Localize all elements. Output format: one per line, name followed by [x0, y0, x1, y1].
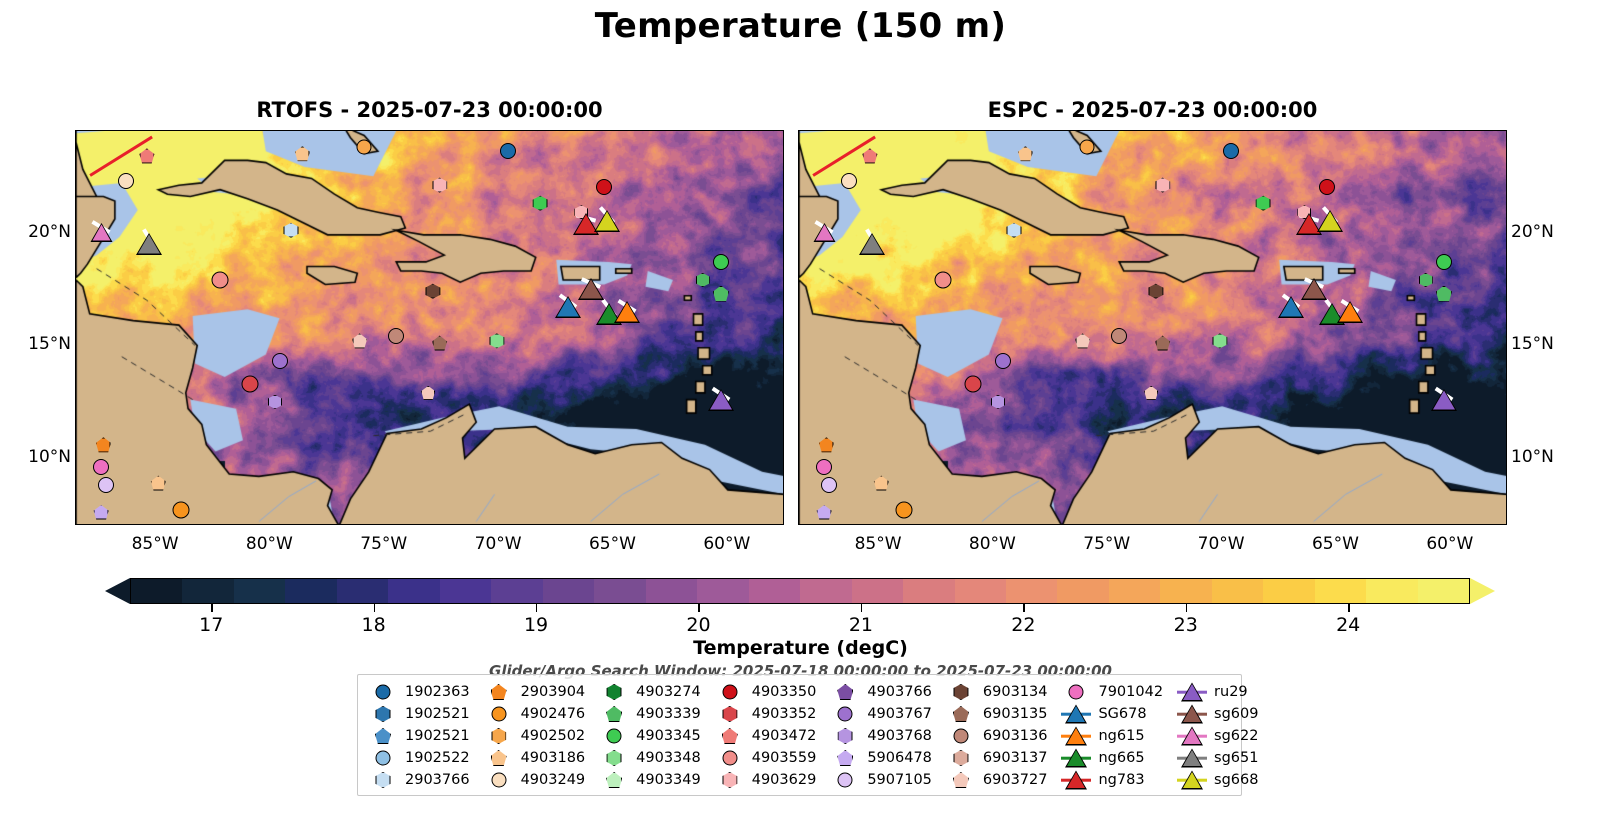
- legend-item-label: 6903137: [983, 750, 1048, 766]
- y-tick-minor: [75, 368, 76, 369]
- x-tick-major: [993, 524, 994, 525]
- y-tick-minor: [1506, 413, 1507, 414]
- legend-item[interactable]: 1902521: [368, 725, 470, 747]
- glider-triangle-fill: [1339, 302, 1361, 321]
- map-frame-rtofs[interactable]: [75, 130, 784, 525]
- colorbar-segment: [1263, 579, 1314, 603]
- y-tick-minor: [75, 255, 76, 256]
- y-tick-minor: [798, 503, 799, 504]
- colorbar-segment: [1160, 579, 1211, 603]
- legend-item-label: 4903766: [867, 684, 932, 700]
- legend-item[interactable]: 4902476: [484, 703, 586, 725]
- glider-marker-ng615[interactable]: [615, 300, 639, 324]
- colorbar-segment: [852, 579, 903, 603]
- legend-item[interactable]: 4903345: [599, 725, 701, 747]
- x-tick-minor: [408, 524, 409, 525]
- y-tick-minor: [783, 503, 784, 504]
- legend-item[interactable]: 2903766: [368, 769, 470, 791]
- x-tick-minor: [293, 524, 294, 525]
- x-tick-major: [156, 524, 157, 525]
- legend-item-label: ng615: [1098, 728, 1144, 744]
- y-tick-minor: [1506, 165, 1507, 166]
- legend-marker-hex-icon: [599, 682, 629, 702]
- legend-item-label: 2903904: [521, 684, 586, 700]
- glider-marker-ru29[interactable]: [1432, 388, 1456, 412]
- x-tick-major: [499, 524, 500, 525]
- argo-marker-4902502[interactable]: [1080, 139, 1095, 154]
- colorbar-segment: [1212, 579, 1263, 603]
- argo-marker-4903767[interactable]: [995, 353, 1011, 369]
- x-tick-minor: [1428, 524, 1429, 525]
- x-tick-minor: [705, 524, 706, 525]
- x-axis-label: 70°W: [1198, 534, 1245, 554]
- y-tick-major: [75, 233, 76, 234]
- y-tick-major: [798, 233, 799, 234]
- legend-item[interactable]: 4903348: [599, 747, 701, 769]
- legend-marker-fill: [491, 728, 506, 744]
- legend-item[interactable]: 7901042: [1061, 681, 1163, 703]
- glider-marker-SG678[interactable]: [1279, 295, 1303, 319]
- x-tick-minor: [1382, 524, 1383, 525]
- legend-item[interactable]: 4902502: [484, 725, 586, 747]
- glider-marker-sg622[interactable]: [814, 222, 835, 243]
- legend-marker-pent-icon: [946, 770, 976, 790]
- x-tick-minor: [453, 524, 454, 525]
- legend-item[interactable]: 5907105: [830, 769, 932, 791]
- y-axis-label: 10°N: [28, 447, 71, 467]
- legend-marker-pent-icon: [599, 704, 629, 724]
- glider-triangle-fill: [1433, 390, 1455, 409]
- glider-triangle-fill: [557, 298, 579, 317]
- legend-item-label: 4903349: [636, 772, 701, 788]
- legend-item[interactable]: 6903727: [946, 769, 1048, 791]
- legend-item-label: 4903348: [636, 750, 701, 766]
- legend-item-label: 4902502: [521, 728, 586, 744]
- argo-marker-4903345b[interactable]: [1436, 254, 1452, 270]
- colorbar-segment: [131, 579, 182, 603]
- legend-marker-circle-icon: [830, 770, 860, 790]
- legend-marker-circle-icon: [1061, 682, 1091, 702]
- y-axis-label: 20°N: [28, 222, 71, 242]
- x-axis-label: 85°W: [855, 534, 902, 554]
- legend-marker-circle-icon: [484, 704, 514, 724]
- legend-item[interactable]: ru29: [1177, 681, 1258, 703]
- legend-item-label: sg622: [1214, 728, 1258, 744]
- legend-item[interactable]: 4903352: [715, 703, 817, 725]
- glider-triangle-fill: [1303, 280, 1325, 299]
- y-tick-minor: [798, 210, 799, 211]
- x-axis-label: 75°W: [1083, 534, 1130, 554]
- legend-marker-circle-icon: [368, 748, 398, 768]
- argo-marker-4903249[interactable]: [118, 173, 134, 189]
- y-tick-major: [75, 345, 76, 346]
- colorbar-tick: [211, 604, 212, 612]
- x-tick-major: [613, 524, 614, 525]
- legend-item[interactable]: 4903629: [715, 769, 817, 791]
- colorbar-tick-label: 24: [1336, 614, 1360, 636]
- legend-marker-fill: [837, 750, 853, 766]
- legend-marker-circle-icon: [715, 748, 745, 768]
- y-tick-minor: [75, 210, 76, 211]
- legend-item[interactable]: sg609: [1177, 703, 1258, 725]
- colorbar-tick: [374, 604, 375, 612]
- legend-item-label: 1902522: [405, 750, 470, 766]
- legend-item[interactable]: 4903559: [715, 747, 817, 769]
- legend-item-label: SG678: [1098, 706, 1146, 722]
- legend-item[interactable]: 4903349: [599, 769, 701, 791]
- legend-item[interactable]: ng783: [1061, 769, 1163, 791]
- y-tick-minor: [1506, 210, 1507, 211]
- x-tick-minor: [1474, 524, 1475, 525]
- legend-marker-hex-icon: [599, 748, 629, 768]
- x-tick-minor: [522, 524, 523, 525]
- glider-marker-sg651[interactable]: [860, 232, 884, 256]
- map-frame-espc[interactable]: [798, 130, 1507, 525]
- x-tick-minor: [636, 524, 637, 525]
- colorbar-segment: [1109, 579, 1160, 603]
- x-tick-minor: [856, 524, 857, 525]
- colorbar-segment: [1057, 579, 1108, 603]
- x-tick-major: [879, 524, 880, 525]
- legend-marker-pent-icon: [946, 704, 976, 724]
- colorbar-tick: [698, 604, 699, 612]
- legend-triangle-fill: [1183, 750, 1201, 766]
- y-tick-minor: [783, 187, 784, 188]
- legend-marker-fill: [491, 773, 506, 788]
- legend-item[interactable]: 1902521: [368, 703, 470, 725]
- legend-item-label: 4903352: [752, 706, 817, 722]
- legend-marker-fill: [376, 706, 391, 722]
- legend-item[interactable]: sg622: [1177, 725, 1258, 747]
- x-tick-minor: [1199, 524, 1200, 525]
- legend-item-label: 4903186: [521, 750, 586, 766]
- platform-legend[interactable]: 1902363190252119025211902522290376629039…: [357, 674, 1242, 796]
- glider-triangle-fill: [710, 390, 732, 409]
- argo-marker-4903350[interactable]: [596, 179, 612, 195]
- x-tick-minor: [225, 524, 226, 525]
- legend-marker-hex-icon: [368, 704, 398, 724]
- legend-item[interactable]: 6903134: [946, 681, 1048, 703]
- legend-item[interactable]: 4903274: [599, 681, 701, 703]
- legend-item-label: 4903350: [752, 684, 817, 700]
- glider-marker-ru29[interactable]: [709, 388, 733, 412]
- x-tick-minor: [1359, 524, 1360, 525]
- legend-marker-fill: [376, 751, 391, 766]
- legend-triangle-fill: [1183, 728, 1201, 744]
- y-tick-minor: [783, 210, 784, 211]
- legend-marker-fill: [491, 750, 507, 766]
- glider-triangle-fill: [815, 225, 833, 241]
- legend-marker-fill: [376, 772, 391, 788]
- glider-triangle-fill: [138, 234, 160, 253]
- y-tick-major: [75, 458, 76, 459]
- legend-item-label: 4903629: [752, 772, 817, 788]
- argo-marker-4902476[interactable]: [896, 502, 913, 519]
- legend-item-label: 4903345: [636, 728, 701, 744]
- legend-item[interactable]: 4903350: [715, 681, 817, 703]
- legend-marker-fill: [606, 706, 622, 722]
- x-tick-minor: [248, 524, 249, 525]
- colorbar-segment: [594, 579, 645, 603]
- legend-marker-hex-icon: [946, 748, 976, 768]
- y-tick-major: [1506, 345, 1507, 346]
- legend-marker-tri-icon: [1061, 748, 1091, 768]
- y-tick-major: [1506, 458, 1507, 459]
- y-tick-minor: [783, 255, 784, 256]
- x-tick-major: [1336, 524, 1337, 525]
- legend-item[interactable]: SG678: [1061, 703, 1163, 725]
- temperature-field-espc: [799, 131, 1507, 525]
- legend-item[interactable]: 4903249: [484, 769, 586, 791]
- legend-item[interactable]: 4903768: [830, 725, 932, 747]
- x-tick-minor: [1268, 524, 1269, 525]
- x-tick-minor: [971, 524, 972, 525]
- y-tick-minor: [75, 187, 76, 188]
- y-tick-minor: [1506, 436, 1507, 437]
- x-tick-minor: [1314, 524, 1315, 525]
- legend-item-label: 4903768: [867, 728, 932, 744]
- colorbar-segment: [543, 579, 594, 603]
- glider-triangle-fill: [1319, 212, 1341, 231]
- argo-marker-4902502[interactable]: [357, 139, 372, 154]
- legend-item[interactable]: sg651: [1177, 747, 1258, 769]
- argo-marker-4903767[interactable]: [272, 353, 288, 369]
- y-tick-minor: [75, 165, 76, 166]
- glider-marker-ng615[interactable]: [1338, 300, 1362, 324]
- legend-item-label: 1902521: [405, 728, 470, 744]
- y-tick-minor: [1506, 187, 1507, 188]
- legend-marker-circle-icon: [830, 704, 860, 724]
- legend-item-label: 1902363: [405, 684, 470, 700]
- x-tick-minor: [925, 524, 926, 525]
- argo-marker-4903350[interactable]: [1319, 179, 1335, 195]
- y-tick-minor: [783, 323, 784, 324]
- legend-marker-tri-icon: [1061, 726, 1091, 746]
- page-title: Temperature (150 m): [0, 6, 1601, 46]
- legend-item-label: 4903767: [867, 706, 932, 722]
- glider-marker-sg609[interactable]: [579, 277, 603, 301]
- argo-marker-7901042[interactable]: [816, 459, 832, 475]
- map-panel-espc[interactable]: ESPC - 2025-07-23 00:00:00 85°W80°W75°W7…: [798, 130, 1507, 525]
- argo-marker-4903249[interactable]: [841, 173, 857, 189]
- legend-marker-fill: [953, 772, 969, 788]
- argo-marker-4903345b[interactable]: [713, 254, 729, 270]
- legend-item[interactable]: 4903339: [599, 703, 701, 725]
- y-tick-minor: [75, 323, 76, 324]
- argo-marker-7901042[interactable]: [93, 459, 109, 475]
- y-tick-major: [783, 345, 784, 346]
- legend-item[interactable]: 5906478: [830, 747, 932, 769]
- colorbar: 1718192021222324: [105, 578, 1495, 604]
- colorbar-tick-label: 17: [199, 614, 223, 636]
- legend-item[interactable]: 6903137: [946, 747, 1048, 769]
- legend-item-label: 2903766: [405, 772, 470, 788]
- legend-marker-hex-icon: [484, 726, 514, 746]
- legend-item-label: 4903339: [636, 706, 701, 722]
- legend-marker-fill: [838, 728, 853, 744]
- legend-item[interactable]: 2903904: [484, 681, 586, 703]
- colorbar-label: Temperature (degC): [0, 637, 1601, 659]
- legend-item-label: 4903249: [521, 772, 586, 788]
- legend-marker-fill: [375, 728, 391, 744]
- legend-item[interactable]: 4903766: [830, 681, 932, 703]
- legend-marker-tri-icon: [1177, 726, 1207, 746]
- legend-triangle-fill: [1067, 772, 1085, 788]
- argo-marker-4903136[interactable]: [388, 328, 404, 344]
- glider-marker-sg668[interactable]: [1318, 209, 1342, 233]
- argo-marker-4903559[interactable]: [212, 271, 229, 288]
- panel-title-rtofs: RTOFS - 2025-07-23 00:00:00: [75, 98, 784, 122]
- y-tick-minor: [798, 165, 799, 166]
- glider-marker-sg609[interactable]: [1302, 277, 1326, 301]
- legend-item[interactable]: 6903136: [946, 725, 1048, 747]
- legend-marker-fill: [722, 706, 737, 722]
- colorbar-tick: [1348, 604, 1349, 612]
- legend-marker-fill: [953, 750, 968, 766]
- x-tick-minor: [87, 524, 88, 525]
- x-tick-minor: [362, 524, 363, 525]
- glider-marker-SG678[interactable]: [556, 295, 580, 319]
- legend-marker-fill: [607, 684, 622, 700]
- x-tick-minor: [1062, 524, 1063, 525]
- legend-item[interactable]: sg668: [1177, 769, 1258, 791]
- legend-triangle-fill: [1183, 706, 1201, 722]
- argo-marker-4903136[interactable]: [1111, 328, 1127, 344]
- x-tick-minor: [902, 524, 903, 525]
- legend-marker-hex-icon: [946, 682, 976, 702]
- x-tick-minor: [316, 524, 317, 525]
- glider-marker-sg651[interactable]: [137, 232, 161, 256]
- legend-item-label: sg609: [1214, 706, 1258, 722]
- colorbar-segment: [697, 579, 748, 603]
- x-tick-minor: [1154, 524, 1155, 525]
- glider-marker-sg668[interactable]: [595, 209, 619, 233]
- legend-marker-fill: [722, 685, 737, 700]
- argo-marker-4903352[interactable]: [964, 375, 981, 392]
- x-tick-minor: [431, 524, 432, 525]
- y-tick-minor: [798, 255, 799, 256]
- y-axis-label: 20°N: [1511, 222, 1554, 242]
- y-tick-minor: [75, 436, 76, 437]
- argo-marker-4902476[interactable]: [173, 502, 190, 519]
- argo-marker-1902363[interactable]: [500, 143, 516, 159]
- x-tick-minor: [1131, 524, 1132, 525]
- x-tick-minor: [1497, 524, 1498, 525]
- legend-item-label: 6903727: [983, 772, 1048, 788]
- legend-item-label: 6903136: [983, 728, 1048, 744]
- y-tick-minor: [1506, 503, 1507, 504]
- legend-item[interactable]: 4903767: [830, 703, 932, 725]
- legend-triangle-fill: [1067, 706, 1085, 722]
- argo-marker-4903352[interactable]: [241, 375, 258, 392]
- y-tick-minor: [1506, 368, 1507, 369]
- colorbar-segment: [955, 579, 1006, 603]
- legend-item-label: 6903134: [983, 684, 1048, 700]
- legend-item-label: 7901042: [1098, 684, 1163, 700]
- x-tick-minor: [110, 524, 111, 525]
- x-tick-minor: [751, 524, 752, 525]
- legend-item[interactable]: 4903186: [484, 747, 586, 769]
- y-tick-major: [798, 345, 799, 346]
- legend-marker-fill: [953, 729, 968, 744]
- legend-triangle-fill: [1067, 728, 1085, 744]
- legend-item[interactable]: ng615: [1061, 725, 1163, 747]
- y-tick-minor: [75, 300, 76, 301]
- x-tick-minor: [568, 524, 569, 525]
- legend-grid: 1902363190252119025211902522290376629039…: [368, 681, 1233, 791]
- legend-item[interactable]: 1902363: [368, 681, 470, 703]
- x-tick-minor: [1016, 524, 1017, 525]
- y-tick-minor: [798, 278, 799, 279]
- colorbar-gradient: [130, 578, 1470, 604]
- legend-item[interactable]: 4903472: [715, 725, 817, 747]
- legend-item-label: 4902476: [521, 706, 586, 722]
- legend-marker-circle-icon: [368, 682, 398, 702]
- colorbar-segment: [285, 579, 336, 603]
- x-axis-label: 65°W: [589, 534, 636, 554]
- legend-marker-tri-icon: [1177, 770, 1207, 790]
- y-tick-minor: [75, 391, 76, 392]
- colorbar-extend-max: [1470, 578, 1495, 604]
- colorbar-segment: [800, 579, 851, 603]
- x-tick-minor: [1085, 524, 1086, 525]
- argo-marker-5907105[interactable]: [821, 477, 837, 493]
- legend-item[interactable]: 1902522: [368, 747, 470, 769]
- colorbar-segment: [491, 579, 542, 603]
- map-panel-rtofs[interactable]: RTOFS - 2025-07-23 00:00:00 85°W80°W75°W…: [75, 130, 784, 525]
- glider-triangle-fill: [92, 225, 110, 241]
- glider-triangle-fill: [580, 280, 602, 299]
- y-tick-minor: [798, 187, 799, 188]
- x-tick-minor: [339, 524, 340, 525]
- legend-marker-pent-icon: [830, 748, 860, 768]
- colorbar-tick-label: 23: [1174, 614, 1198, 636]
- y-tick-minor: [783, 481, 784, 482]
- x-axis-label: 80°W: [969, 534, 1016, 554]
- x-tick-minor: [476, 524, 477, 525]
- legend-marker-fill: [722, 751, 737, 766]
- legend-item[interactable]: 6903135: [946, 703, 1048, 725]
- colorbar-segment: [388, 579, 439, 603]
- legend-item-label: sg651: [1214, 750, 1258, 766]
- argo-marker-5907105[interactable]: [98, 477, 114, 493]
- legend-marker-hex-icon: [715, 704, 745, 724]
- legend-marker-pent-icon: [599, 770, 629, 790]
- x-tick-minor: [591, 524, 592, 525]
- argo-marker-4903559[interactable]: [935, 271, 952, 288]
- legend-marker-tri-icon: [1061, 770, 1091, 790]
- argo-marker-1902363[interactable]: [1223, 143, 1239, 159]
- y-tick-minor: [783, 391, 784, 392]
- glider-triangle-fill: [616, 302, 638, 321]
- colorbar-segment: [182, 579, 233, 603]
- legend-marker-fill: [722, 772, 737, 788]
- x-axis-label: 60°W: [703, 534, 750, 554]
- x-axis-label: 65°W: [1312, 534, 1359, 554]
- x-tick-minor: [133, 524, 134, 525]
- x-tick-major: [1222, 524, 1223, 525]
- legend-marker-pent-icon: [484, 748, 514, 768]
- glider-marker-sg622[interactable]: [91, 222, 112, 243]
- y-tick-minor: [798, 413, 799, 414]
- y-tick-minor: [1506, 142, 1507, 143]
- x-tick-minor: [545, 524, 546, 525]
- y-tick-minor: [75, 278, 76, 279]
- legend-marker-fill: [722, 728, 738, 744]
- legend-item[interactable]: ng665: [1061, 747, 1163, 769]
- colorbar-segment: [646, 579, 697, 603]
- legend-marker-fill: [837, 684, 853, 700]
